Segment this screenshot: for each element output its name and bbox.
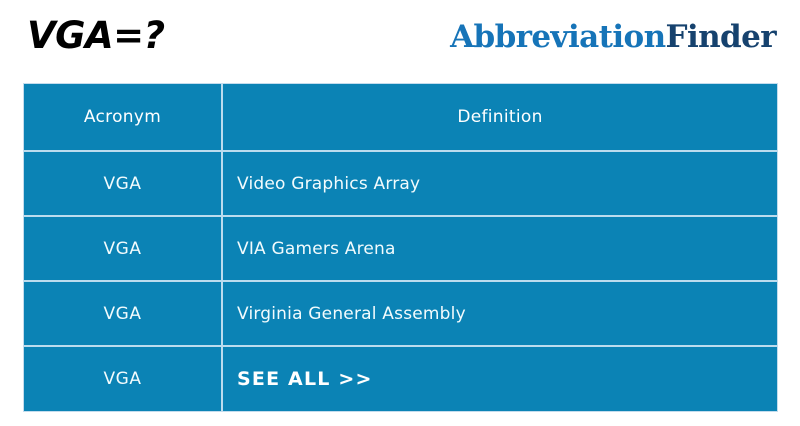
table-row: VGA VIA Gamers Arena bbox=[24, 216, 777, 281]
cell-acronym: VGA bbox=[24, 151, 222, 216]
page-title: VGA=? bbox=[27, 12, 165, 60]
see-all-link[interactable]: SEE ALL >> bbox=[237, 368, 373, 390]
table-row: VGA SEE ALL >> bbox=[24, 346, 777, 411]
brand-logo[interactable]: AbbreviationFinder bbox=[450, 18, 776, 56]
cell-definition[interactable]: Video Graphics Array bbox=[222, 151, 777, 216]
cell-definition[interactable]: SEE ALL >> bbox=[222, 346, 777, 411]
cell-definition[interactable]: VIA Gamers Arena bbox=[222, 216, 777, 281]
table-body: VGA Video Graphics Array VGA VIA Gamers … bbox=[24, 151, 777, 411]
cell-acronym: VGA bbox=[24, 216, 222, 281]
page-header: VGA=? AbbreviationFinder bbox=[0, 0, 800, 84]
cell-definition[interactable]: Virginia General Assembly bbox=[222, 281, 777, 346]
brand-name-secondary: Finder bbox=[666, 19, 776, 55]
table-header-row: Acronym Definition bbox=[24, 84, 777, 151]
abbreviation-results-table: Acronym Definition VGA Video Graphics Ar… bbox=[24, 84, 777, 411]
table-row: VGA Video Graphics Array bbox=[24, 151, 777, 216]
table-row: VGA Virginia General Assembly bbox=[24, 281, 777, 346]
brand-name-primary: Abbreviation bbox=[450, 19, 665, 55]
column-header-acronym: Acronym bbox=[24, 84, 222, 151]
column-header-definition: Definition bbox=[222, 84, 777, 151]
cell-acronym: VGA bbox=[24, 281, 222, 346]
table-header: Acronym Definition bbox=[24, 84, 777, 151]
cell-acronym: VGA bbox=[24, 346, 222, 411]
